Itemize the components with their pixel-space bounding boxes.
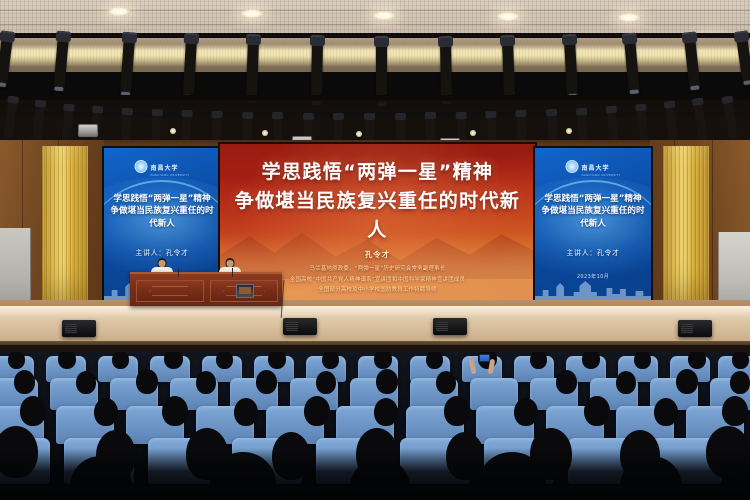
ceiling-downlight bbox=[108, 7, 130, 16]
audience-head bbox=[530, 352, 547, 369]
audience-head bbox=[316, 371, 336, 394]
audience-head bbox=[654, 398, 678, 426]
main-title-line1: 学思践悟“两弹一星”精神 bbox=[230, 158, 525, 187]
university-emblem-icon bbox=[135, 160, 148, 173]
audience-head bbox=[374, 398, 398, 426]
table-front-panel bbox=[136, 280, 204, 302]
audience-head bbox=[20, 396, 46, 426]
stage-monitor-speaker bbox=[678, 320, 712, 337]
left-screen-title: 学思践悟“两弹一星”精神 争做堪当民族复兴重任的时代新人 bbox=[109, 193, 215, 230]
audience-head bbox=[730, 371, 750, 394]
spot-lamp bbox=[566, 128, 572, 134]
university-name: 南昌大学 bbox=[151, 165, 179, 172]
main-screen-speaker-name: 孔令才 bbox=[220, 249, 535, 260]
stage-light-fixture bbox=[183, 38, 197, 100]
right-screen-title-line2: 争做堪当民族复兴重任的时代新人 bbox=[540, 205, 646, 230]
table-panel-ornament bbox=[149, 286, 191, 296]
stage-monitor-speaker bbox=[283, 318, 317, 335]
ceiling-downlight bbox=[241, 9, 263, 18]
audience-head bbox=[436, 371, 456, 394]
audience-head bbox=[256, 370, 277, 394]
speaker-table bbox=[130, 272, 282, 306]
audience-head bbox=[76, 371, 96, 394]
audience-area bbox=[0, 352, 750, 500]
audience-head bbox=[514, 398, 538, 426]
audience-foreground-shadow bbox=[0, 448, 750, 500]
audience-head bbox=[136, 369, 158, 394]
left-stage-curtain bbox=[42, 146, 88, 308]
ceiling-downlight bbox=[373, 11, 395, 20]
audience-head bbox=[304, 396, 330, 426]
stage-light-fixture bbox=[502, 40, 515, 102]
audience-head bbox=[8, 352, 25, 369]
audience-head bbox=[444, 396, 470, 426]
audience-head bbox=[234, 398, 258, 426]
ceiling-seam bbox=[0, 24, 750, 25]
stage-light-fixture bbox=[246, 39, 259, 103]
audience-head bbox=[216, 352, 233, 369]
audience-head bbox=[268, 352, 286, 369]
audience-head bbox=[722, 396, 748, 426]
audience-head bbox=[556, 370, 577, 394]
auditorium-photo: 南昌大学 NANCHANG UNIVERSITY 学思践悟“两弹一星”精神 争做… bbox=[0, 0, 750, 500]
audience-head bbox=[688, 352, 706, 369]
audience-head bbox=[322, 352, 339, 369]
table-microphone bbox=[178, 268, 179, 277]
stage-monitor-speaker bbox=[433, 318, 467, 335]
audience-head bbox=[426, 352, 443, 369]
face bbox=[159, 260, 166, 267]
university-logo: 南昌大学 NANCHANG UNIVERSITY bbox=[135, 155, 190, 177]
main-title-line2: 争做堪当民族复兴重任的时代新人 bbox=[230, 187, 525, 245]
main-screen-title: 学思践悟“两弹一星”精神 争做堪当民族复兴重任的时代新人 bbox=[230, 158, 525, 245]
spot-lamp bbox=[470, 130, 476, 136]
audience-head bbox=[94, 398, 118, 426]
left-screen-title-line2: 争做堪当民族复兴重任的时代新人 bbox=[109, 205, 215, 230]
laptop-on-table bbox=[236, 284, 254, 298]
table-microphone bbox=[232, 268, 233, 277]
audience-head bbox=[376, 369, 398, 394]
audience-head bbox=[164, 352, 183, 369]
left-side-door[interactable] bbox=[0, 228, 31, 310]
cove-texture bbox=[0, 44, 750, 66]
right-led-screen[interactable]: 南昌大学 NANCHANG UNIVERSITY 学思践悟“两弹一星”精神 争做… bbox=[533, 146, 653, 310]
right-screen-title: 学思践悟“两弹一星”精神 争做堪当民族复兴重任的时代新人 bbox=[540, 193, 646, 230]
audience-head bbox=[112, 352, 129, 369]
stage-floor-highlight bbox=[0, 306, 750, 318]
smartphone-recording[interactable] bbox=[479, 354, 490, 362]
left-screen-title-line1: 学思践悟“两弹一星”精神 bbox=[109, 193, 215, 205]
audience-head bbox=[584, 396, 610, 426]
left-screen-speaker: 主讲人：孔令才 bbox=[104, 248, 220, 258]
university-name-english: NANCHANG UNIVERSITY bbox=[151, 174, 190, 177]
audience-head bbox=[196, 371, 216, 394]
university-logo: 南昌大学 NANCHANG UNIVERSITY bbox=[566, 155, 621, 177]
audience-head bbox=[14, 370, 35, 394]
stage-monitor-speaker bbox=[62, 320, 96, 337]
university-name-english: NANCHANG UNIVERSITY bbox=[582, 174, 621, 177]
floodlight-fixture bbox=[78, 124, 98, 137]
right-stage-curtain bbox=[663, 146, 709, 308]
right-screen-title-line1: 学思践悟“两弹一星”精神 bbox=[540, 193, 646, 205]
spot-lamp bbox=[262, 130, 268, 136]
audience-head bbox=[732, 352, 749, 369]
audience-head bbox=[676, 369, 698, 394]
audience-head bbox=[374, 352, 392, 369]
spot-lamp bbox=[170, 128, 176, 134]
right-screen-speaker: 主讲人：孔令才 bbox=[535, 248, 651, 258]
audience-head bbox=[58, 352, 76, 369]
ceiling-downlight bbox=[618, 13, 640, 22]
university-name: 南昌大学 bbox=[582, 165, 610, 172]
university-emblem-icon bbox=[566, 160, 579, 173]
spot-lamp bbox=[356, 131, 362, 137]
face bbox=[227, 260, 234, 267]
audience-head bbox=[162, 396, 188, 426]
ceiling-downlight bbox=[497, 12, 519, 21]
audience-head bbox=[582, 352, 600, 369]
audience-head bbox=[616, 371, 636, 394]
audience-head bbox=[634, 352, 651, 369]
